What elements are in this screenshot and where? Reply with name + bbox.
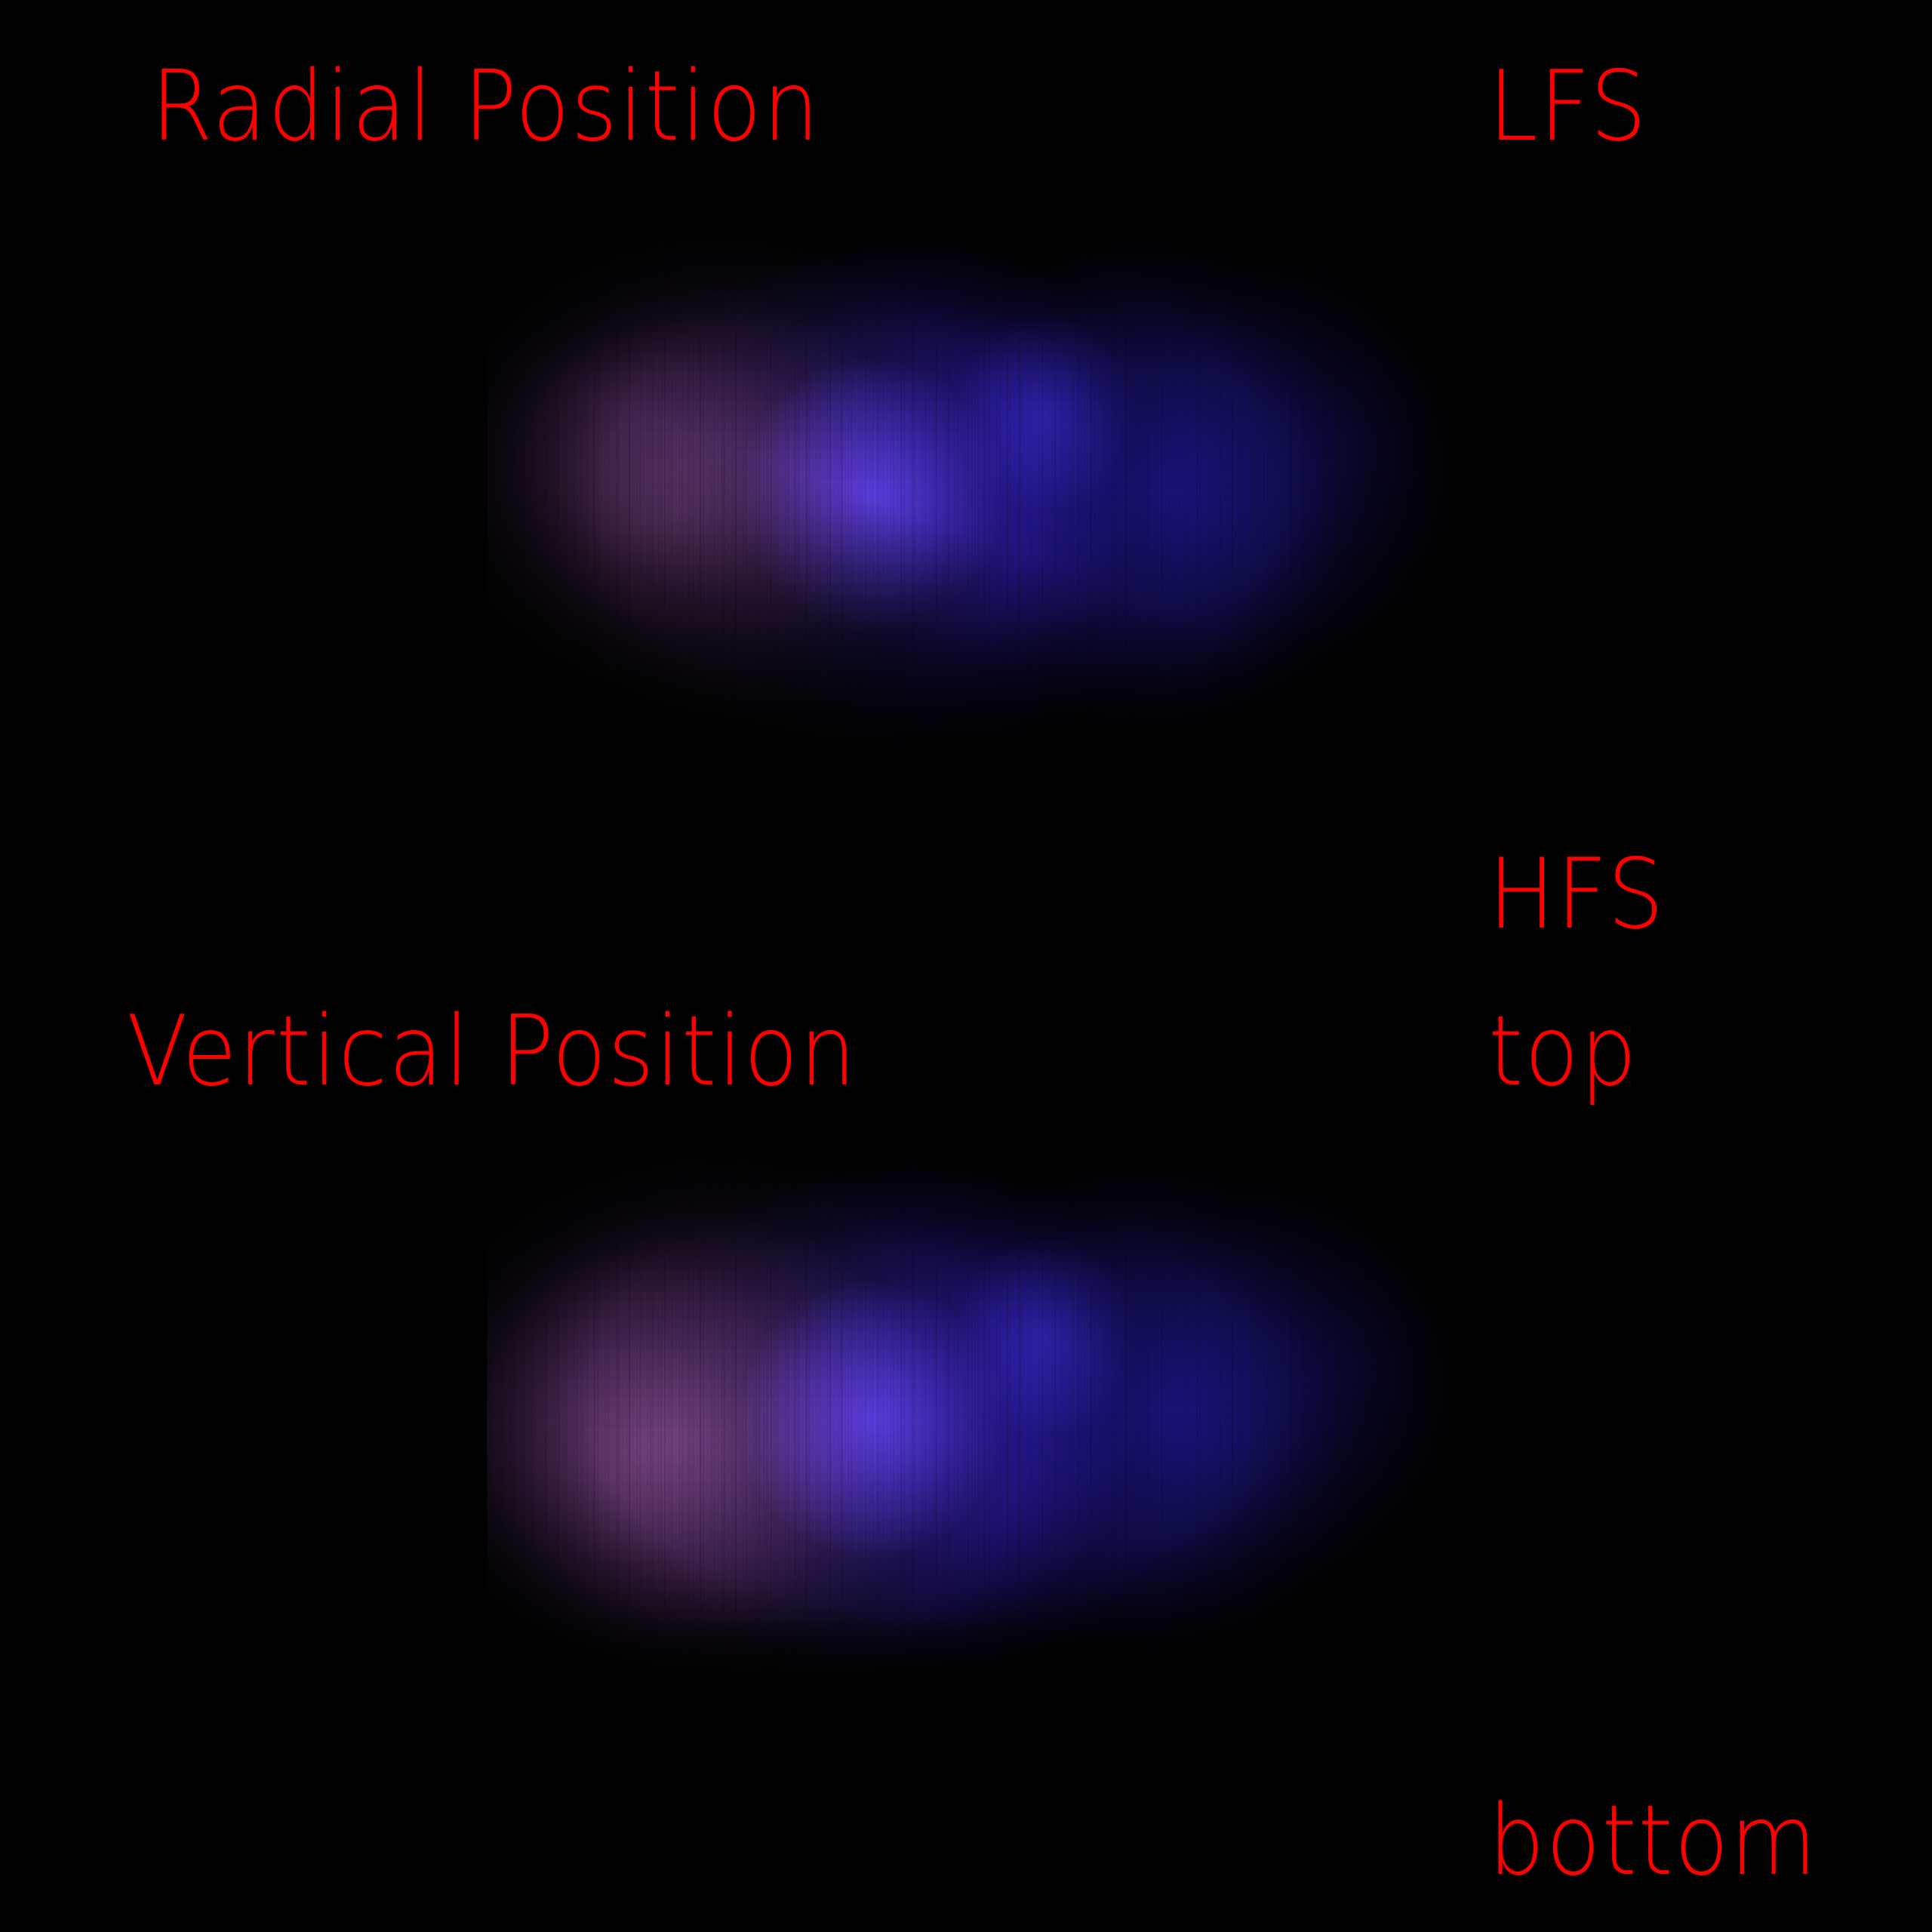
radial-position-label: Radial Position [151, 59, 878, 155]
heatmap-vignette [487, 202, 1448, 826]
vertical-position-label-text: Vertical Position [127, 1004, 857, 1100]
vertical-position-heatmap [487, 1123, 1448, 1754]
bottom-label: bottom [1488, 1793, 1847, 1890]
bottom-label-text: bottom [1488, 1793, 1818, 1890]
figure-canvas: Radial Position LFS HFS Vertical Positio… [0, 0, 1932, 1932]
top-label: top [1488, 1004, 1651, 1100]
radial-position-label-text: Radial Position [151, 59, 820, 155]
lfs-label: LFS [1488, 59, 1662, 155]
heatmap-vignette [487, 1123, 1448, 1754]
vertical-position-label: Vertical Position [127, 1004, 921, 1100]
top-label-text: top [1488, 1004, 1638, 1100]
radial-position-heatmap [487, 202, 1448, 826]
hfs-label: HFS [1488, 847, 1681, 943]
hfs-label-text: HFS [1488, 847, 1665, 943]
lfs-label-text: LFS [1488, 59, 1648, 155]
